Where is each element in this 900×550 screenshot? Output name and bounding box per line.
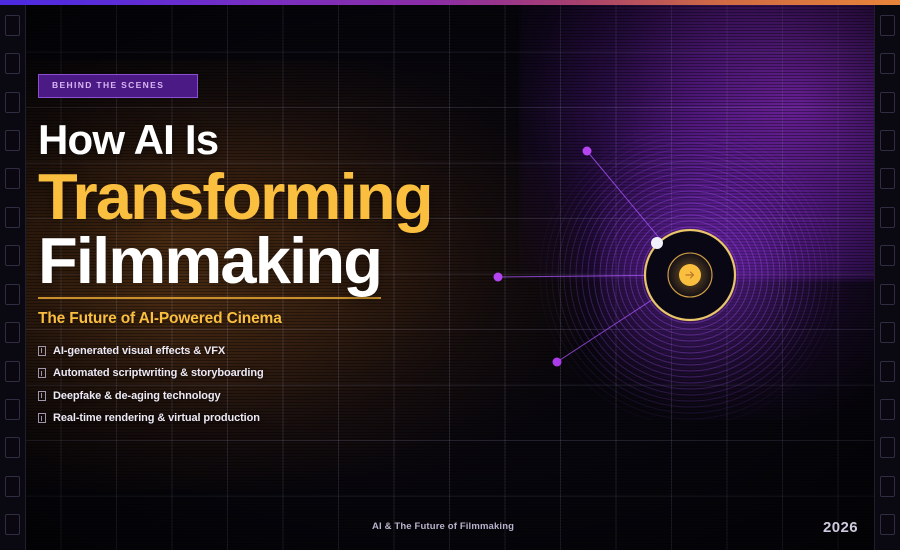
list-item-label: AI-generated visual effects & VFX [53, 345, 225, 357]
play-arrow-icon [686, 272, 694, 278]
hub-disc [645, 230, 735, 320]
film-perforation [5, 53, 20, 74]
top-accent-bar [0, 0, 900, 5]
poster-canvas: BEHIND THE SCENES How AI Is Transforming… [0, 0, 900, 550]
missing-glyph-box-icon [38, 413, 46, 423]
film-perforation [5, 284, 20, 305]
film-perforation [5, 514, 20, 535]
missing-glyph-box-icon [38, 346, 46, 356]
missing-glyph-box-icon [38, 391, 46, 401]
film-perforation [5, 15, 20, 36]
film-perforation [880, 168, 895, 189]
film-perforation [880, 399, 895, 420]
film-perforation [880, 245, 895, 266]
film-perforation [5, 245, 20, 266]
hub-inner-ring [668, 253, 712, 297]
film-perforation [5, 361, 20, 382]
headline-line-3: Filmmaking [38, 227, 381, 295]
film-perforation [880, 437, 895, 458]
film-perforation [5, 92, 20, 113]
headline-line-1: How AI Is [38, 119, 598, 162]
film-perforation [5, 168, 20, 189]
headline-line-2: Transforming [38, 163, 598, 231]
film-strip-left [0, 0, 26, 550]
subtitle: The Future of AI-Powered Cinema [38, 310, 598, 328]
film-perforation [5, 437, 20, 458]
film-strip-right [874, 0, 900, 550]
category-badge: BEHIND THE SCENES [38, 74, 198, 98]
film-perforation [880, 15, 895, 36]
film-perforation [880, 92, 895, 113]
list-item-label: Real-time rendering & virtual production [53, 412, 260, 424]
list-item: Deepfake & de-aging technology [38, 390, 598, 402]
film-perforation [880, 476, 895, 497]
film-perforation [880, 361, 895, 382]
film-perforation [880, 322, 895, 343]
list-item: Automated scriptwriting & storyboarding [38, 367, 598, 379]
film-perforation [5, 130, 20, 151]
film-perforation [5, 322, 20, 343]
footer-caption: AI & The Future of Filmmaking [372, 521, 514, 532]
list-item: AI-generated visual effects & VFX [38, 345, 598, 357]
purple-glow-secondary [600, 120, 900, 420]
feature-list: AI-generated visual effects & VFX Automa… [38, 345, 598, 425]
headline-line-3-underlined: Filmmaking [38, 227, 381, 299]
list-item-label: Deepfake & de-aging technology [53, 390, 221, 402]
hub-outer-ring [645, 230, 735, 320]
hero-content: BEHIND THE SCENES How AI Is Transforming… [38, 74, 598, 435]
list-item: Real-time rendering & virtual production [38, 412, 598, 424]
list-item-label: Automated scriptwriting & storyboarding [53, 367, 264, 379]
film-perforation [5, 476, 20, 497]
footer-year: 2026 [823, 519, 858, 536]
film-perforation [880, 284, 895, 305]
missing-glyph-box-icon [38, 368, 46, 378]
film-perforation [880, 514, 895, 535]
node-orbit-white [651, 237, 663, 249]
film-perforation [880, 130, 895, 151]
film-perforation [880, 53, 895, 74]
film-perforation [880, 207, 895, 228]
ai-core-node [679, 264, 701, 286]
film-perforation [5, 207, 20, 228]
film-perforation [5, 399, 20, 420]
core-glow [666, 251, 714, 299]
